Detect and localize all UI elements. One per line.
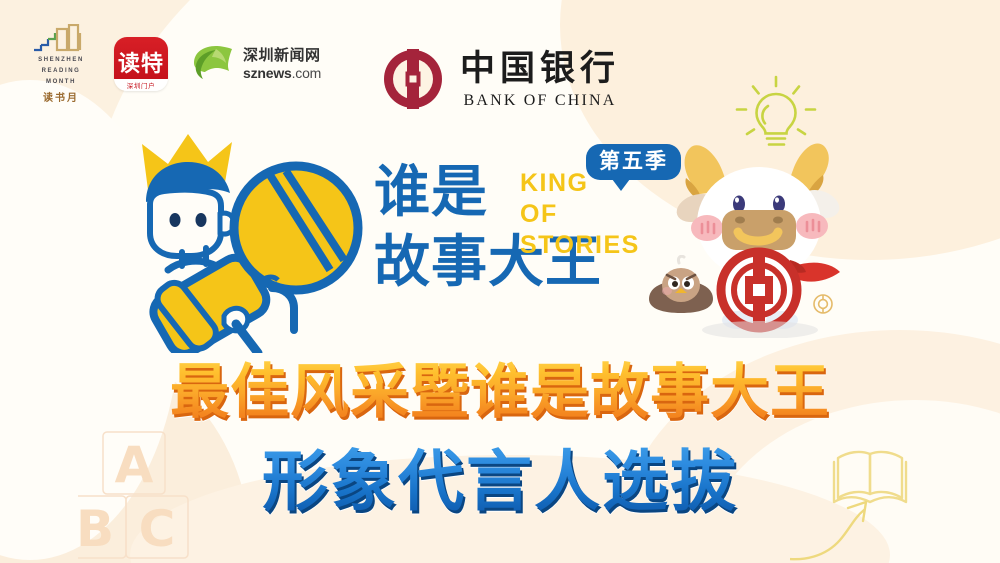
green-leaf-icon (190, 43, 236, 85)
bar-chart-buildings-icon (32, 24, 90, 54)
boc-english: BANK OF CHINA (463, 92, 616, 110)
promotional-poster: A B C (0, 0, 1000, 563)
boc-text: 中国银行 BANK OF CHINA (460, 49, 620, 110)
sznews-logo: 深圳新闻网 sznews.com (190, 43, 321, 85)
srm-english-line3: MONTH (46, 78, 76, 87)
owl-sidekick-mascot (645, 255, 717, 322)
srm-chinese: 读书月 (43, 89, 79, 104)
boy-with-microphone-mascot (120, 128, 370, 358)
bank-of-china-logo: 中国银行 BANK OF CHINA (382, 48, 620, 110)
boc-chinese: 中国银行 (460, 49, 620, 89)
srm-english-line1: SHENZHEN (38, 56, 84, 65)
shenzhen-reading-month-logo: SHENZHEN READING MONTH 读书月 (30, 24, 92, 104)
dute-app-logo: 读特 深圳门户 (114, 37, 168, 91)
program-logo: 谁是 故事大王 KING OF STORIES (374, 160, 602, 296)
sznews-chinese: 深圳新闻网 (243, 48, 321, 63)
sznews-english: sznews.com (243, 66, 321, 80)
boc-emblem-held (721, 250, 797, 330)
partner-logo-row: SHENZHEN READING MONTH 读书月 读特 深圳门户 深圳新闻网… (30, 24, 321, 104)
boc-coin-logo (382, 48, 444, 110)
program-logo-english-line3: STORIES (520, 230, 640, 261)
dute-chinese: 读特 (118, 46, 164, 78)
program-logo-english-line2: OF (520, 199, 640, 230)
headline-secondary: 形象代言人选拔 (0, 443, 1000, 521)
season-badge: 第五季 (586, 144, 681, 180)
dute-subtitle: 深圳门户 (114, 80, 168, 90)
srm-english-line2: READING (42, 67, 81, 76)
sznews-text: 深圳新闻网 sznews.com (243, 48, 321, 80)
coin-registered-mark (812, 293, 834, 320)
headline-primary: 最佳风采暨谁是故事大王 (0, 357, 1000, 427)
